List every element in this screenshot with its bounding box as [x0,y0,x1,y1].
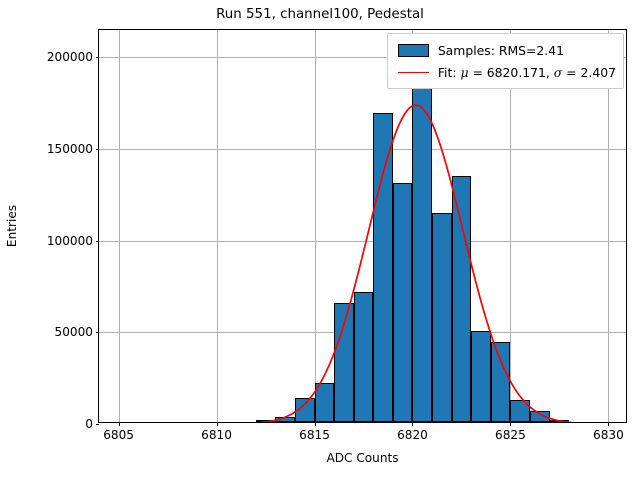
y-tick [96,241,100,242]
legend-fit-sigma-value: 2.407 [581,65,616,80]
y-tick [96,332,100,333]
x-tick [217,422,218,426]
legend-fit-sigma-eq: = [562,65,580,80]
x-tick-label: 6810 [201,428,232,442]
legend-fit-sigma-symbol: σ [554,65,562,80]
x-tick-label: 6830 [593,428,624,442]
y-tick-label: 150000 [47,142,93,156]
x-tick [608,422,609,426]
y-tick-label: 0 [85,417,93,431]
legend-fit-mu-symbol: μ [460,65,468,80]
chart-legend[interactable]: Samples: RMS=2.41 Fit: μ = 6820.171, σ =… [387,33,624,89]
x-tick-label: 6820 [397,428,428,442]
x-tick [510,422,511,426]
y-tick-label: 50000 [55,325,93,339]
legend-swatch-line-icon [398,72,429,73]
legend-fit-prefix: Fit: [438,65,461,80]
legend-item-fit: Fit: μ = 6820.171, σ = 2.407 [395,61,616,83]
x-tick-label: 6815 [299,428,330,442]
y-tick [96,424,100,425]
legend-label-fit: Fit: μ = 6820.171, σ = 2.407 [429,65,616,80]
x-tick [315,422,316,426]
legend-label-samples: Samples: RMS=2.41 [429,43,564,58]
legend-swatch-bar-icon [398,44,429,57]
legend-item-samples: Samples: RMS=2.41 [395,39,616,61]
y-axis-title: Entries [5,205,19,247]
plot-axes: 6805681068156820682568300500001000001500… [98,29,627,423]
x-tick-label: 6805 [103,428,134,442]
figure-canvas: Run 551, channel100, Pedestal 6805681068… [0,0,640,480]
y-tick [96,149,100,150]
chart-title: Run 551, channel100, Pedestal [0,7,640,22]
x-tick [412,422,413,426]
legend-fit-mu-value: 6820.171, [487,65,554,80]
legend-fit-mu-eq: = [469,65,487,80]
x-tick [119,422,120,426]
x-axis-title: ADC Counts [98,451,627,465]
x-tick-label: 6825 [495,428,526,442]
y-tick-label: 100000 [47,234,93,248]
y-tick-label: 200000 [47,50,93,64]
y-tick [96,57,100,58]
